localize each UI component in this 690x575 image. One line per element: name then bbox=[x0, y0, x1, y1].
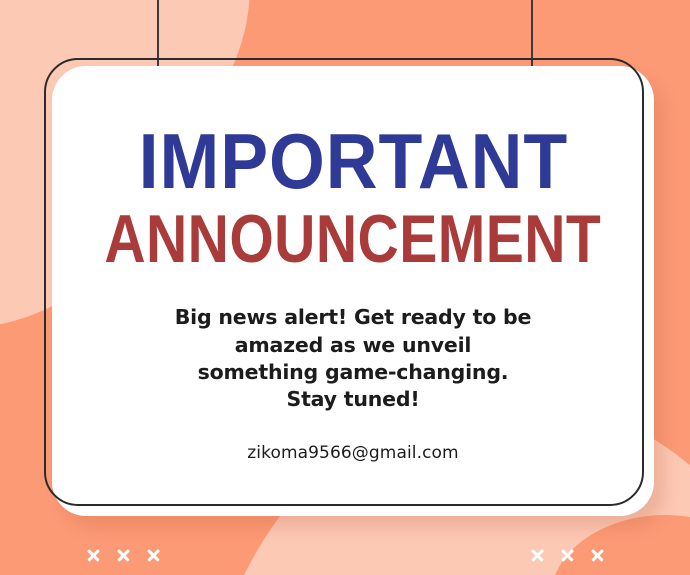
decorative-x-row-right bbox=[529, 547, 605, 563]
announcement-card: IMPORTANT ANNOUNCEMENT Big news alert! G… bbox=[44, 58, 646, 508]
body-copy: Big news alert! Get ready to be amazed a… bbox=[173, 304, 533, 413]
x-mark-icon bbox=[559, 547, 575, 563]
x-mark-icon bbox=[145, 547, 161, 563]
x-mark-icon bbox=[529, 547, 545, 563]
background-corner-cover bbox=[550, 515, 690, 575]
headline-secondary: ANNOUNCEMENT bbox=[105, 209, 602, 270]
contact-email: zikoma9566@gmail.com bbox=[247, 443, 458, 463]
card-content: IMPORTANT ANNOUNCEMENT Big news alert! G… bbox=[52, 66, 654, 516]
x-mark-icon bbox=[589, 547, 605, 563]
x-mark-icon bbox=[85, 547, 101, 563]
announcement-poster: IMPORTANT ANNOUNCEMENT Big news alert! G… bbox=[0, 0, 690, 575]
headline-primary: IMPORTANT bbox=[138, 128, 567, 195]
x-mark-icon bbox=[115, 547, 131, 563]
decorative-x-row-left bbox=[85, 547, 161, 563]
